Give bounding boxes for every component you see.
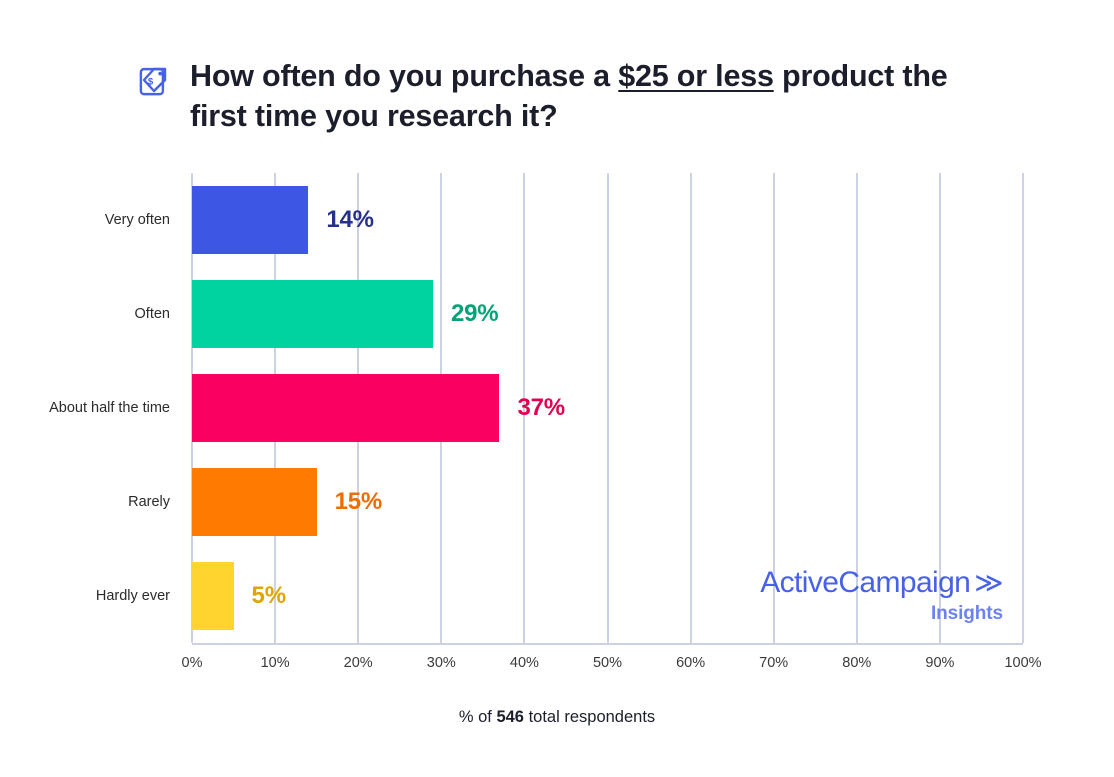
x-tick-3: 30% <box>427 655 456 671</box>
x-tick-6: 60% <box>676 655 705 671</box>
caption-suffix: total respondents <box>524 708 655 726</box>
x-axis-labels: 0% 10% 20% 30% 40% 50% 60% 70% 80% 90% 1… <box>192 655 1023 677</box>
y-axis-label-1: Often <box>0 267 170 361</box>
axis-baseline <box>192 643 1023 645</box>
y-axis-labels: Very often Often About half the time Rar… <box>0 173 170 643</box>
x-tick-4: 40% <box>510 655 539 671</box>
y-axis-label-3: Rarely <box>0 455 170 549</box>
page-title: How often do you purchase a $25 or less … <box>190 56 1000 136</box>
bar-value-about-half-the-time: 37% <box>517 394 564 422</box>
caption-prefix: % of <box>459 708 497 726</box>
respondent-count: 546 <box>496 708 524 726</box>
price-tag-icon: $ <box>134 60 174 100</box>
bar-value-very-often: 14% <box>326 206 373 234</box>
x-tick-10: 100% <box>1004 655 1041 671</box>
bar-value-often: 29% <box>451 300 498 328</box>
activecampaign-logo[interactable]: ActiveCampaign≫ Insights <box>741 566 1003 627</box>
chevron-double-right-icon: ≫ <box>974 567 1003 598</box>
svg-text:$: $ <box>148 77 154 88</box>
x-tick-9: 90% <box>925 655 954 671</box>
bar-often[interactable] <box>192 280 433 348</box>
logo-subtitle: Insights <box>741 601 1003 627</box>
logo-brand-name: ActiveCampaign≫ <box>741 566 1003 600</box>
x-tick-5: 50% <box>593 655 622 671</box>
bar-value-hardly-ever: 5% <box>252 582 286 610</box>
respondents-caption: % of 546 total respondents <box>0 708 1114 727</box>
x-tick-7: 70% <box>759 655 788 671</box>
chart-page: $ How often do you purchase a $25 or les… <box>0 0 1114 777</box>
x-tick-2: 20% <box>344 655 373 671</box>
x-tick-1: 10% <box>261 655 290 671</box>
chart-header: $ How often do you purchase a $25 or les… <box>134 56 1024 136</box>
title-text-part1: How often do you purchase a <box>190 59 618 93</box>
bar-row-often[interactable]: 29% <box>192 267 1023 361</box>
bar-value-rarely: 15% <box>335 488 382 516</box>
bar-hardly-ever[interactable] <box>192 562 234 630</box>
y-axis-label-0: Very often <box>0 173 170 267</box>
logo-wordmark: ActiveCampaign <box>760 566 970 599</box>
bar-row-rarely[interactable]: 15% <box>192 455 1023 549</box>
bar-rarely[interactable] <box>192 468 317 536</box>
bar-row-about-half-the-time[interactable]: 37% <box>192 361 1023 455</box>
bar-about-half-the-time[interactable] <box>192 374 499 442</box>
bar-very-often[interactable] <box>192 186 308 254</box>
title-text-underlined: $25 or less <box>618 59 774 93</box>
x-tick-8: 80% <box>842 655 871 671</box>
y-axis-label-4: Hardly ever <box>0 549 170 643</box>
bar-row-very-often[interactable]: 14% <box>192 173 1023 267</box>
y-axis-label-2: About half the time <box>0 361 170 455</box>
x-tick-0: 0% <box>182 655 203 671</box>
